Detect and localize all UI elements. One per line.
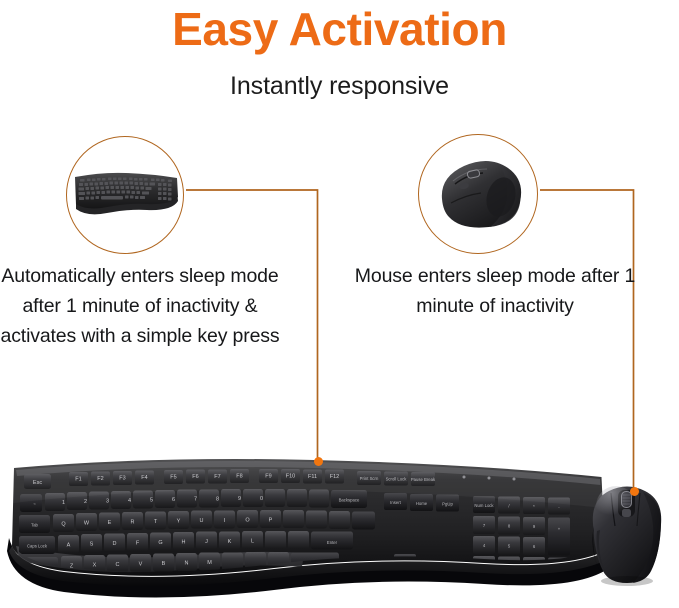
svg-text:K: K [228,539,232,545]
svg-text:X: X [93,563,97,569]
svg-text:.: . [533,585,534,590]
product-keyboard: Esc F1F2 F3F4 F5F6 F7F8 F9F10 F11F12 12 … [0,448,614,598]
svg-text:W: W [84,521,90,527]
svg-text:2: 2 [84,499,87,505]
svg-text:P: P [269,518,273,524]
svg-text:Caps Lock: Caps Lock [27,544,48,549]
svg-text:0: 0 [260,496,263,502]
svg-text:Backspace: Backspace [339,498,360,503]
svg-text:Tab: Tab [31,523,38,528]
svg-text:N: N [185,561,189,567]
callout-circle-mouse [418,134,538,254]
svg-text:1: 1 [62,500,65,506]
connector-dot-keyboard [314,457,323,466]
svg-text:7: 7 [194,497,197,503]
svg-text:R: R [131,520,135,526]
svg-text:S: S [90,542,94,548]
svg-text:Q: Q [61,522,66,528]
svg-text:M: M [207,560,212,566]
svg-text:4: 4 [128,498,131,504]
connector-dot-mouse [630,487,639,496]
svg-text:9: 9 [238,496,241,502]
svg-text:A: A [67,543,71,549]
svg-text:L: L [251,539,254,545]
svg-text:O: O [245,518,250,524]
svg-text:G: G [158,540,162,546]
svg-text:E: E [108,520,112,526]
callout-circle-keyboard [66,136,184,254]
svg-text:C: C [116,562,120,568]
svg-text:V: V [139,562,143,568]
infographic-stage: Easy Activation Instantly responsive [0,0,679,608]
svg-text:D: D [113,541,117,547]
svg-text:J: J [205,539,208,545]
page-title: Easy Activation [0,2,679,56]
svg-text:Home: Home [416,501,428,506]
caption-mouse: Mouse enters sleep mode after 1 minute o… [345,261,645,321]
svg-text:H: H [182,540,186,546]
svg-text:6: 6 [172,497,175,503]
svg-text:B: B [162,561,166,567]
svg-text:Num Lock: Num Lock [474,503,494,508]
svg-text:8: 8 [216,497,219,503]
keyboard-thumbnail [72,169,180,223]
svg-text:PgUp: PgUp [442,502,453,507]
svg-text:U: U [200,518,204,524]
svg-text:Enter: Enter [327,540,338,545]
page-subtitle: Instantly responsive [0,70,679,102]
svg-text:5: 5 [150,498,153,504]
svg-text:3: 3 [106,499,109,505]
caption-keyboard: Automatically enters sleep mode after 1 … [0,261,280,351]
mouse-thumbnail [425,151,533,239]
svg-text:Insert: Insert [390,500,401,505]
product-mouse [578,478,676,590]
svg-text:Y: Y [177,519,181,525]
